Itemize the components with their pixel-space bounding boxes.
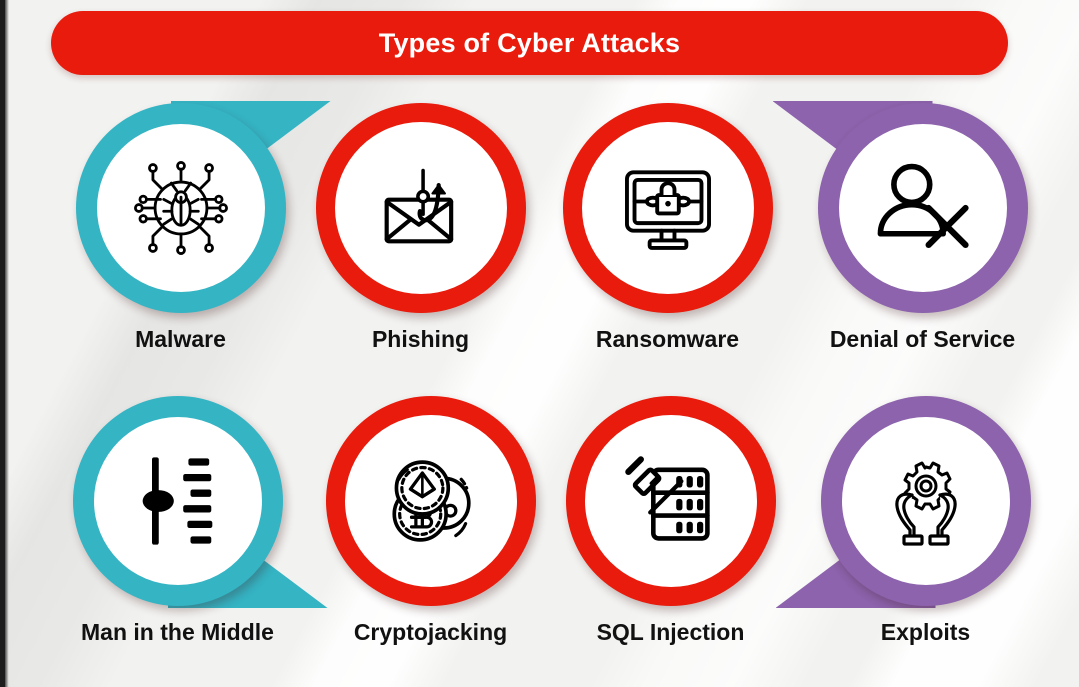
cryptojacking-bubble: [326, 396, 536, 606]
attack-label-phishing: Phishing: [372, 326, 469, 353]
bug-circuit-icon: [121, 148, 241, 268]
attack-card-malware[interactable]: Malware: [68, 103, 293, 353]
envelope-hook-icon: [361, 148, 481, 268]
attack-label-sql-injection: SQL Injection: [597, 619, 745, 646]
hands-gear-icon: [866, 441, 986, 561]
attack-label-denial-of-service: Denial of Service: [830, 326, 1015, 353]
left-edge-gradient: [5, 0, 9, 687]
attack-label-ransomware: Ransomware: [596, 326, 739, 353]
denial-of-service-bubble: [818, 103, 1028, 313]
title-banner: Types of Cyber Attacks: [51, 11, 1008, 75]
crypto-coins-icon: [371, 441, 491, 561]
sql-injection-bubble: [566, 396, 776, 606]
user-cross-icon: [863, 148, 983, 268]
attack-card-phishing[interactable]: Phishing: [308, 103, 533, 353]
attack-label-exploits: Exploits: [881, 619, 970, 646]
ransomware-bubble: [563, 103, 773, 313]
attack-card-denial-of-service[interactable]: Denial of Service: [810, 103, 1035, 353]
attack-card-ransomware[interactable]: Ransomware: [555, 103, 780, 353]
malware-bubble: [76, 103, 286, 313]
man-in-the-middle-bubble: [73, 396, 283, 606]
attack-card-sql-injection[interactable]: SQL Injection: [558, 396, 783, 646]
slider-equalizer-icon: [118, 441, 238, 561]
attack-card-man-in-the-middle[interactable]: Man in the Middle: [65, 396, 290, 646]
page-title: Types of Cyber Attacks: [379, 28, 681, 59]
attack-card-cryptojacking[interactable]: Cryptojacking: [318, 396, 543, 646]
attack-label-man-in-the-middle: Man in the Middle: [81, 619, 274, 646]
monitor-padlock-chain-icon: [608, 148, 728, 268]
attack-label-malware: Malware: [135, 326, 226, 353]
infographic-canvas: Types of Cyber Attacks: [0, 0, 1079, 687]
syringe-database-icon: [611, 441, 731, 561]
exploits-bubble: [821, 396, 1031, 606]
attack-card-exploits[interactable]: Exploits: [813, 396, 1038, 646]
phishing-bubble: [316, 103, 526, 313]
left-edge-band: [0, 0, 5, 687]
attack-label-cryptojacking: Cryptojacking: [354, 619, 507, 646]
